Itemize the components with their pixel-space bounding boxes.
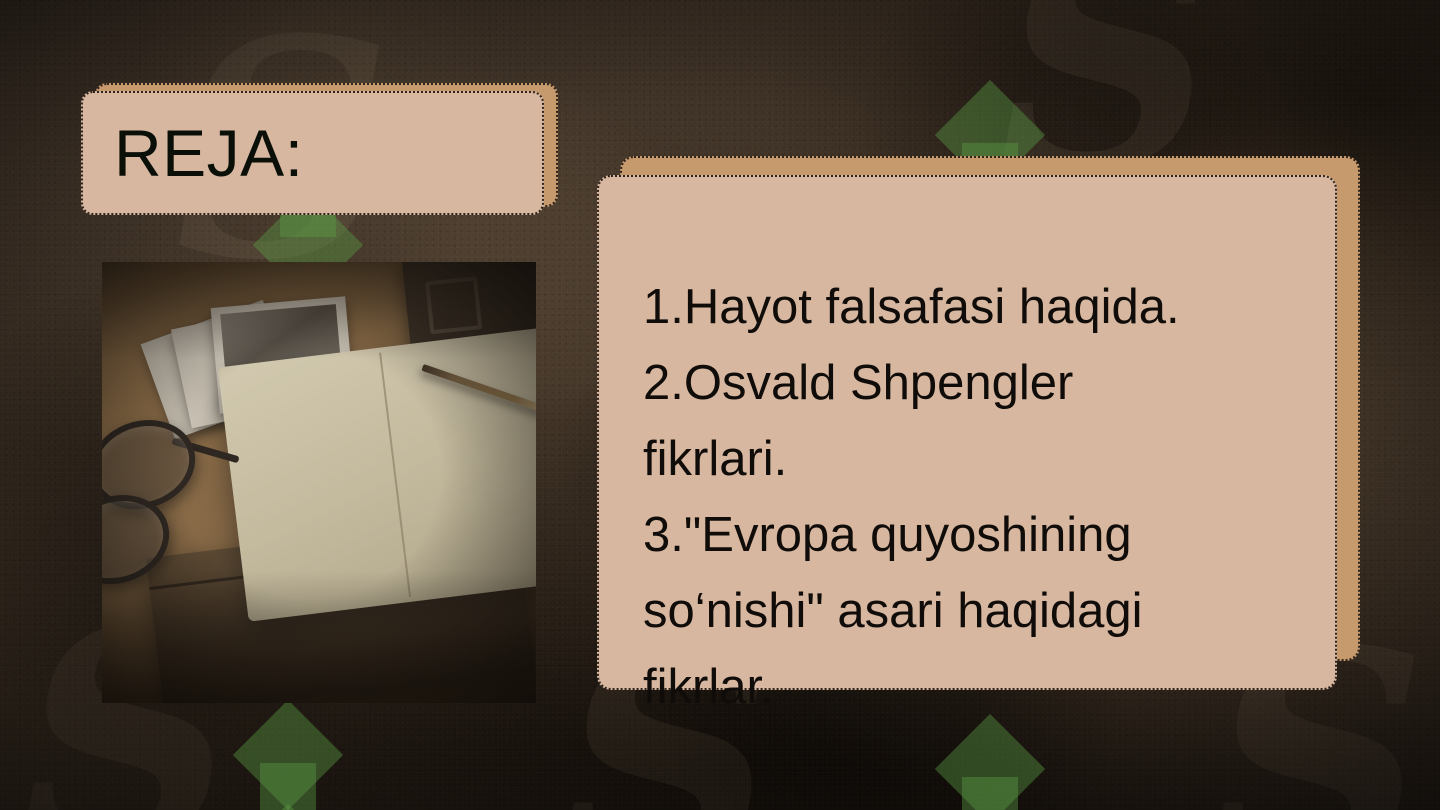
agenda-line: 3."Evropa quyoshining [643, 497, 1317, 573]
agenda-line: so‘nishi" asari haqidagi [643, 573, 1317, 649]
page-title: REJA: [81, 91, 544, 215]
diamond-logo-watermark-icon [228, 712, 348, 810]
slide-canvas: S S S S S S S REJA: 1.Hayot falsafasi ha… [0, 0, 1440, 810]
diamond-logo-watermark-icon [930, 726, 1050, 810]
agenda-line: 1.Hayot falsafasi haqida. [643, 269, 1317, 345]
agenda-line: fikrlari. [643, 421, 1317, 497]
agenda-line: fikrlar. [643, 649, 1317, 725]
photo-vignette [102, 262, 536, 703]
agenda-list: 1.Hayot falsafasi haqida. 2.Osvald Shpen… [597, 175, 1337, 725]
agenda-line: 2.Osvald Shpengler [643, 345, 1317, 421]
notebook-photo [102, 262, 536, 703]
